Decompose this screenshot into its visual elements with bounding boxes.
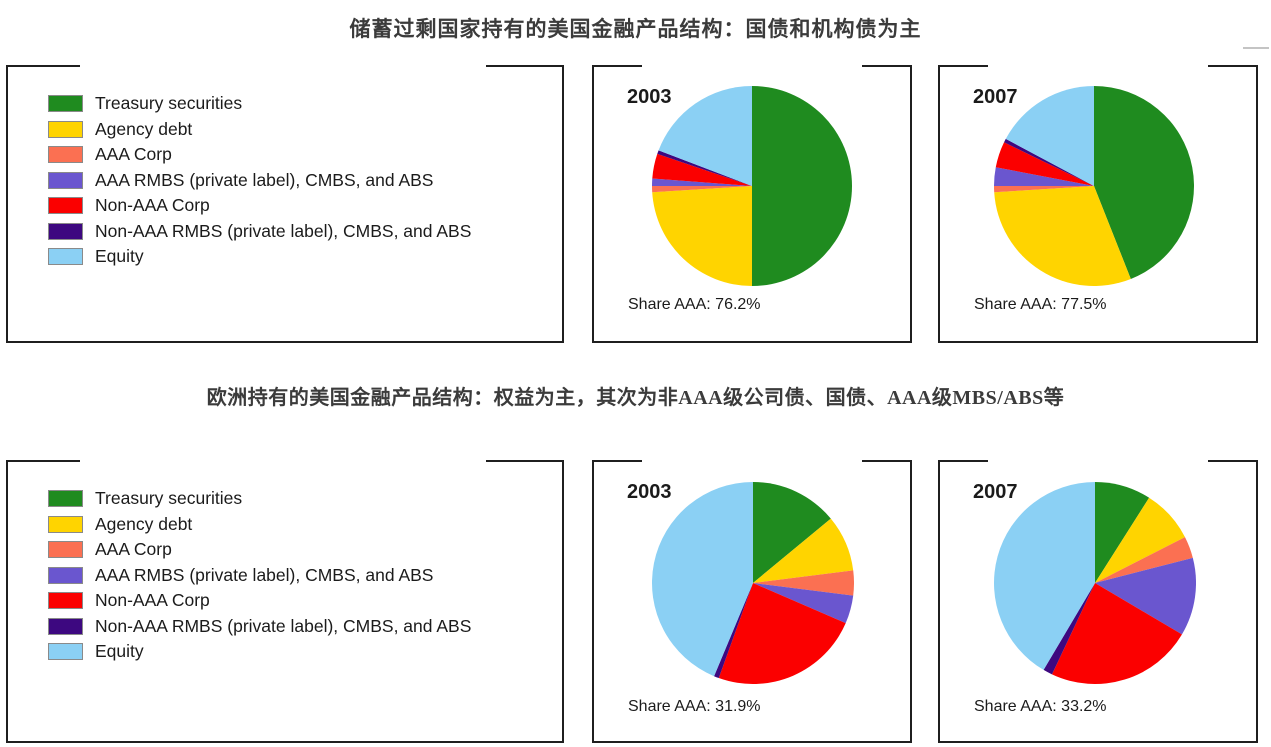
- legend-item-equity: Equity: [48, 639, 471, 665]
- legend-swatch-treasury: [48, 490, 83, 507]
- legend-label-aaa_rmbs: AAA RMBS (private label), CMBS, and ABS: [95, 172, 433, 190]
- share-aaa-label: Share AAA: 33.2%: [974, 698, 1107, 716]
- legend-swatch-non_aaa_rmbs: [48, 223, 83, 240]
- legend-swatch-equity: [48, 248, 83, 265]
- stray-scan-line: [1243, 47, 1269, 49]
- pie-slice: [752, 86, 852, 286]
- pie-svg: [994, 482, 1196, 684]
- legend-item-treasury: Treasury securities: [48, 91, 471, 117]
- pie-chart-top-2003: [652, 86, 852, 286]
- section-title-top: 储蓄过剩国家持有的美国金融产品结构：国债和机构债为主: [0, 13, 1271, 43]
- legend-label-non_aaa_rmbs: Non-AAA RMBS (private label), CMBS, and …: [95, 618, 471, 636]
- legend-item-aaa_corp: AAA Corp: [48, 537, 471, 563]
- legend-swatch-aaa_rmbs: [48, 567, 83, 584]
- legend-list-top: Treasury securitiesAgency debtAAA CorpAA…: [48, 91, 471, 270]
- legend-item-aaa_corp: AAA Corp: [48, 142, 471, 168]
- legend-item-agency: Agency debt: [48, 512, 471, 538]
- legend-item-agency: Agency debt: [48, 117, 471, 143]
- pie-svg: [994, 86, 1194, 286]
- pie-panel-top-2003: 2003 Share AAA: 76.2%: [592, 65, 912, 343]
- pie-panel-bottom-2003: 2003 Share AAA: 31.9%: [592, 460, 912, 743]
- legend-swatch-aaa_rmbs: [48, 172, 83, 189]
- legend-label-equity: Equity: [95, 643, 144, 661]
- legend-panel-bottom: Treasury securitiesAgency debtAAA CorpAA…: [6, 460, 564, 743]
- legend-item-treasury: Treasury securities: [48, 486, 471, 512]
- section-title-bottom: 欧洲持有的美国金融产品结构：权益为主，其次为非AAA级公司债、国债、AAA级MB…: [0, 381, 1271, 410]
- share-aaa-label: Share AAA: 76.2%: [628, 296, 761, 314]
- legend-swatch-aaa_corp: [48, 541, 83, 558]
- legend-label-treasury: Treasury securities: [95, 490, 242, 508]
- legend-swatch-agency: [48, 121, 83, 138]
- legend-label-aaa_corp: AAA Corp: [95, 146, 172, 164]
- pie-panel-top-2007: 2007 Share AAA: 77.5%: [938, 65, 1258, 343]
- legend-label-agency: Agency debt: [95, 121, 192, 139]
- legend-label-non_aaa_corp: Non-AAA Corp: [95, 197, 210, 215]
- legend-item-non_aaa_corp: Non-AAA Corp: [48, 193, 471, 219]
- legend-item-equity: Equity: [48, 244, 471, 270]
- legend-item-aaa_rmbs: AAA RMBS (private label), CMBS, and ABS: [48, 563, 471, 589]
- pie-panel-bottom-2007: 2007 Share AAA: 33.2%: [938, 460, 1258, 743]
- legend-label-non_aaa_corp: Non-AAA Corp: [95, 592, 210, 610]
- pie-chart-bottom-2003: [652, 482, 854, 684]
- legend-panel-top: Treasury securitiesAgency debtAAA CorpAA…: [6, 65, 564, 343]
- legend-label-aaa_rmbs: AAA RMBS (private label), CMBS, and ABS: [95, 567, 433, 585]
- pie-chart-bottom-2007: [994, 482, 1196, 684]
- legend-label-non_aaa_rmbs: Non-AAA RMBS (private label), CMBS, and …: [95, 223, 471, 241]
- pie-svg: [652, 482, 854, 684]
- legend-item-non_aaa_rmbs: Non-AAA RMBS (private label), CMBS, and …: [48, 614, 471, 640]
- legend-item-aaa_rmbs: AAA RMBS (private label), CMBS, and ABS: [48, 168, 471, 194]
- legend-swatch-equity: [48, 643, 83, 660]
- legend-swatch-non_aaa_corp: [48, 197, 83, 214]
- legend-swatch-aaa_corp: [48, 146, 83, 163]
- pie-slice: [652, 186, 752, 286]
- pie-chart-top-2007: [994, 86, 1194, 286]
- legend-swatch-agency: [48, 516, 83, 533]
- share-aaa-label: Share AAA: 77.5%: [974, 296, 1107, 314]
- legend-swatch-non_aaa_corp: [48, 592, 83, 609]
- legend-item-non_aaa_rmbs: Non-AAA RMBS (private label), CMBS, and …: [48, 219, 471, 245]
- legend-list-bottom: Treasury securitiesAgency debtAAA CorpAA…: [48, 486, 471, 665]
- legend-label-aaa_corp: AAA Corp: [95, 541, 172, 559]
- legend-label-agency: Agency debt: [95, 516, 192, 534]
- legend-item-non_aaa_corp: Non-AAA Corp: [48, 588, 471, 614]
- legend-swatch-treasury: [48, 95, 83, 112]
- pie-svg: [652, 86, 852, 286]
- legend-label-equity: Equity: [95, 248, 144, 266]
- legend-swatch-non_aaa_rmbs: [48, 618, 83, 635]
- share-aaa-label: Share AAA: 31.9%: [628, 698, 761, 716]
- legend-label-treasury: Treasury securities: [95, 95, 242, 113]
